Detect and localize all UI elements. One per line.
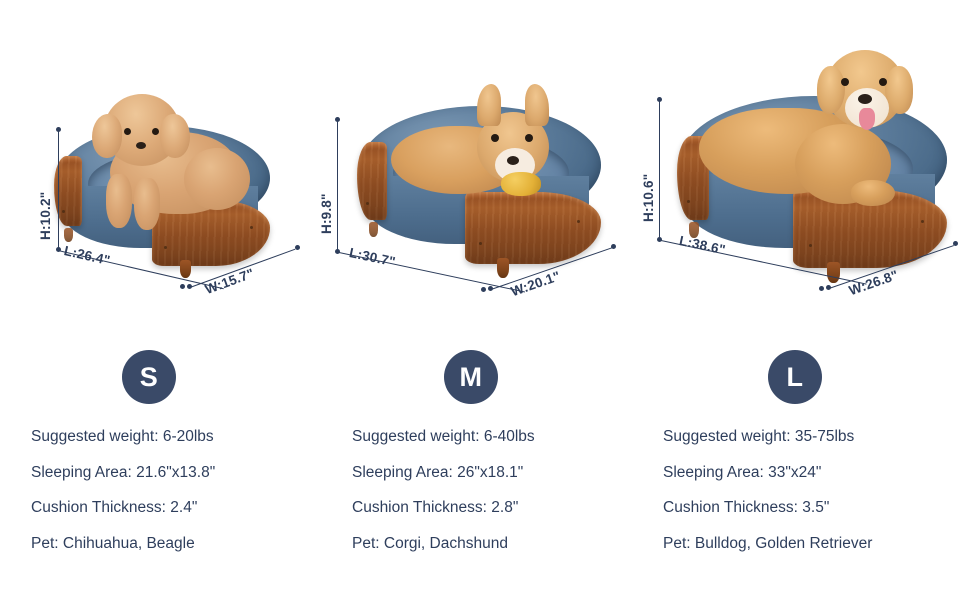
spec-list-medium: Suggested weight: 6-40lbs Sleeping Area:… <box>352 429 535 551</box>
dimension-endpoint-dot <box>56 127 61 132</box>
dimension-endpoint-dot <box>295 245 300 250</box>
size-column-large: H:10.6" L:38.6" W:26.8" L Suggested weig… <box>647 0 970 600</box>
product-image-small <box>52 108 292 293</box>
dog-eye <box>152 128 159 135</box>
spec-list-large: Suggested weight: 35-75lbs Sleeping Area… <box>663 429 872 551</box>
spec-cushion-thickness: Cushion Thickness: 2.4" <box>31 500 215 516</box>
size-column-medium: H:9.8" L:30.7" W:20.1" M Suggested weigh… <box>323 0 646 600</box>
dimension-endpoint-dot <box>819 286 824 291</box>
dog-photo-golden-retriever <box>675 82 967 294</box>
spec-suggested-weight: Suggested weight: 6-20lbs <box>31 429 215 445</box>
spec-sleeping-area: Sleeping Area: 26"x18.1" <box>352 465 535 481</box>
height-dimension-line <box>58 130 59 250</box>
dog-ear <box>885 66 913 114</box>
dog-ear <box>525 84 549 126</box>
height-dimension-label: H:10.6" <box>641 174 656 222</box>
dog-tongue <box>859 108 875 130</box>
size-badge-small: S <box>122 350 176 404</box>
dog-front-leg <box>134 178 160 230</box>
dog-ear <box>92 114 122 158</box>
dog-eye <box>491 134 499 142</box>
dimension-endpoint-dot <box>657 97 662 102</box>
height-dimension-label: H:9.8" <box>319 193 334 234</box>
dog-nose <box>858 94 872 104</box>
dog-nose <box>136 142 146 149</box>
dog-ear <box>477 84 501 126</box>
size-column-small: H:10.2" L:26.4" W:15.7" S Suggested weig… <box>0 0 323 600</box>
dog-eye <box>841 78 849 86</box>
height-dimension-label: H:10.2" <box>38 192 53 240</box>
dimension-endpoint-dot <box>953 241 958 246</box>
dog-front-paw <box>851 180 895 206</box>
dog-toy <box>501 172 541 196</box>
dog-eye <box>124 128 131 135</box>
dimension-endpoint-dot <box>826 285 831 290</box>
size-chart-infographic: H:10.2" L:26.4" W:15.7" S Suggested weig… <box>0 0 970 600</box>
dimension-endpoint-dot <box>481 287 486 292</box>
dimension-endpoint-dot <box>488 286 493 291</box>
dog-eye <box>879 78 887 86</box>
dimension-endpoint-dot <box>180 284 185 289</box>
dog-photo-corgi <box>355 92 625 292</box>
product-image-large <box>675 82 967 294</box>
spec-suggested-weight: Suggested weight: 6-40lbs <box>352 429 535 445</box>
dimension-endpoint-dot <box>335 117 340 122</box>
size-badge-label: M <box>460 362 483 393</box>
dog-ear <box>160 114 190 158</box>
dog-photo-toy-poodle <box>52 108 292 293</box>
size-badge-medium: M <box>444 350 498 404</box>
product-image-medium <box>355 92 625 292</box>
spec-cushion-thickness: Cushion Thickness: 2.8" <box>352 500 535 516</box>
height-dimension-line <box>659 100 660 240</box>
size-badge-label: S <box>140 362 159 393</box>
spec-suggested-weight: Suggested weight: 35-75lbs <box>663 429 872 445</box>
dog-eye <box>525 134 533 142</box>
spec-sleeping-area: Sleeping Area: 21.6"x13.8" <box>31 465 215 481</box>
dog-nose <box>507 156 519 165</box>
spec-pet-breeds: Pet: Bulldog, Golden Retriever <box>663 536 872 552</box>
dog-front-leg <box>106 174 132 228</box>
spec-list-small: Suggested weight: 6-20lbs Sleeping Area:… <box>31 429 215 551</box>
spec-sleeping-area: Sleeping Area: 33"x24" <box>663 465 872 481</box>
size-badge-label: L <box>787 362 804 393</box>
size-badge-large: L <box>768 350 822 404</box>
spec-cushion-thickness: Cushion Thickness: 3.5" <box>663 500 872 516</box>
spec-pet-breeds: Pet: Corgi, Dachshund <box>352 536 535 552</box>
dimension-endpoint-dot <box>611 244 616 249</box>
spec-pet-breeds: Pet: Chihuahua, Beagle <box>31 536 215 552</box>
height-dimension-line <box>337 120 338 252</box>
dog-hindquarters <box>184 148 250 210</box>
dimension-endpoint-dot <box>187 284 192 289</box>
